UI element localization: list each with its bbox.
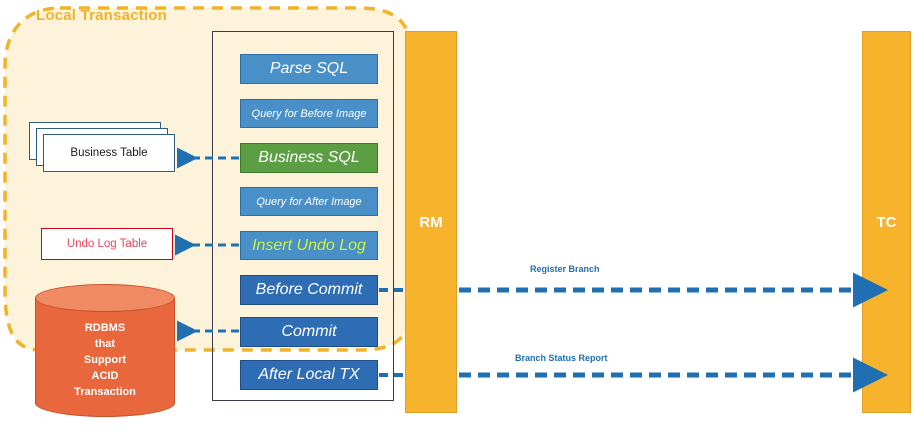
step-insert-undo-log[interactable]: Insert Undo Log <box>240 231 378 260</box>
undo-log-table: Undo Log Table <box>41 228 173 260</box>
rdbms-label: RDBMS that Support ACID Transaction <box>35 320 175 400</box>
business-table-card-front: Business Table <box>43 134 175 172</box>
step-query-after-image[interactable]: Query for After Image <box>240 187 378 216</box>
rdbms-line-3: Support <box>35 352 175 368</box>
undo-log-table-label: Undo Log Table <box>67 238 147 250</box>
business-table: Business Table <box>29 122 179 180</box>
step-parse-sql[interactable]: Parse SQL <box>240 54 378 84</box>
rdbms-line-5: Transaction <box>35 384 175 400</box>
message-label-register-branch: Register Branch <box>530 264 600 274</box>
diagram-canvas: Local Transaction Business Table Undo Lo… <box>0 0 915 443</box>
rdbms-line-2: that <box>35 336 175 352</box>
rm-lifeline[interactable]: RM <box>405 31 457 413</box>
rm-label: RM <box>419 214 442 231</box>
step-query-before-image[interactable]: Query for Before Image <box>240 99 378 128</box>
rdbms-line-4: ACID <box>35 368 175 384</box>
message-label-branch-status-report: Branch Status Report <box>515 353 608 363</box>
local-transaction-label: Local Transaction <box>36 7 167 24</box>
step-commit[interactable]: Commit <box>240 317 378 347</box>
step-before-commit[interactable]: Before Commit <box>240 275 378 305</box>
rdbms-line-1: RDBMS <box>35 320 175 336</box>
rdbms-cylinder-icon: RDBMS that Support ACID Transaction <box>35 284 175 417</box>
tc-lifeline[interactable]: TC <box>862 31 911 413</box>
tc-label: TC <box>877 214 897 231</box>
step-business-sql[interactable]: Business SQL <box>240 143 378 173</box>
business-table-label: Business Table <box>70 147 147 159</box>
step-after-local-tx[interactable]: After Local TX <box>240 360 378 390</box>
cylinder-top <box>35 284 175 312</box>
